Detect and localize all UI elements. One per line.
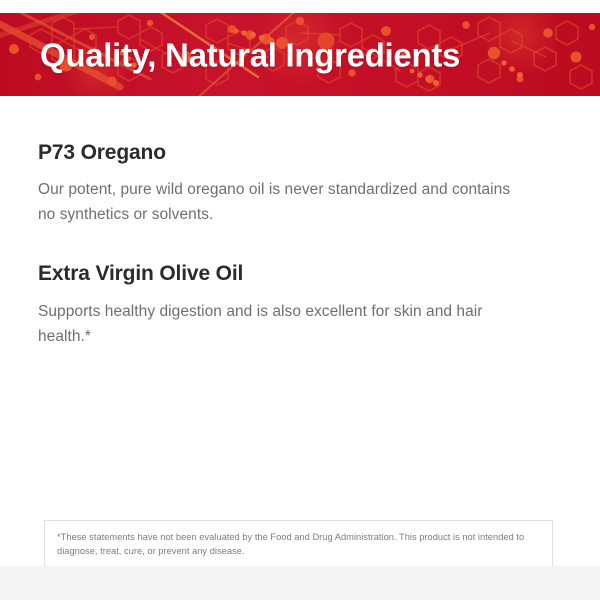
ingredient-description: Our potent, pure wild oregano oil is nev… [38, 177, 530, 227]
ingredient-description: Supports healthy digestion and is also e… [38, 299, 530, 349]
ingredient-item: Extra Virgin Olive Oil Supports healthy … [38, 261, 538, 348]
product-info-page: Quality, Natural Ingredients P73 Oregano… [0, 0, 600, 600]
ingredient-name: Extra Virgin Olive Oil [38, 261, 538, 286]
fda-disclaimer-box: *These statements have not been evaluate… [44, 520, 553, 570]
ingredient-name: P73 Oregano [38, 140, 538, 165]
page-title: Quality, Natural Ingredients [40, 38, 460, 71]
ingredients-list: P73 Oregano Our potent, pure wild oregan… [38, 140, 538, 349]
footer-shade [0, 566, 600, 600]
ingredient-item: P73 Oregano Our potent, pure wild oregan… [38, 140, 538, 227]
hero-banner: Quality, Natural Ingredients [0, 13, 600, 96]
fda-disclaimer-text: *These statements have not been evaluate… [57, 530, 540, 559]
